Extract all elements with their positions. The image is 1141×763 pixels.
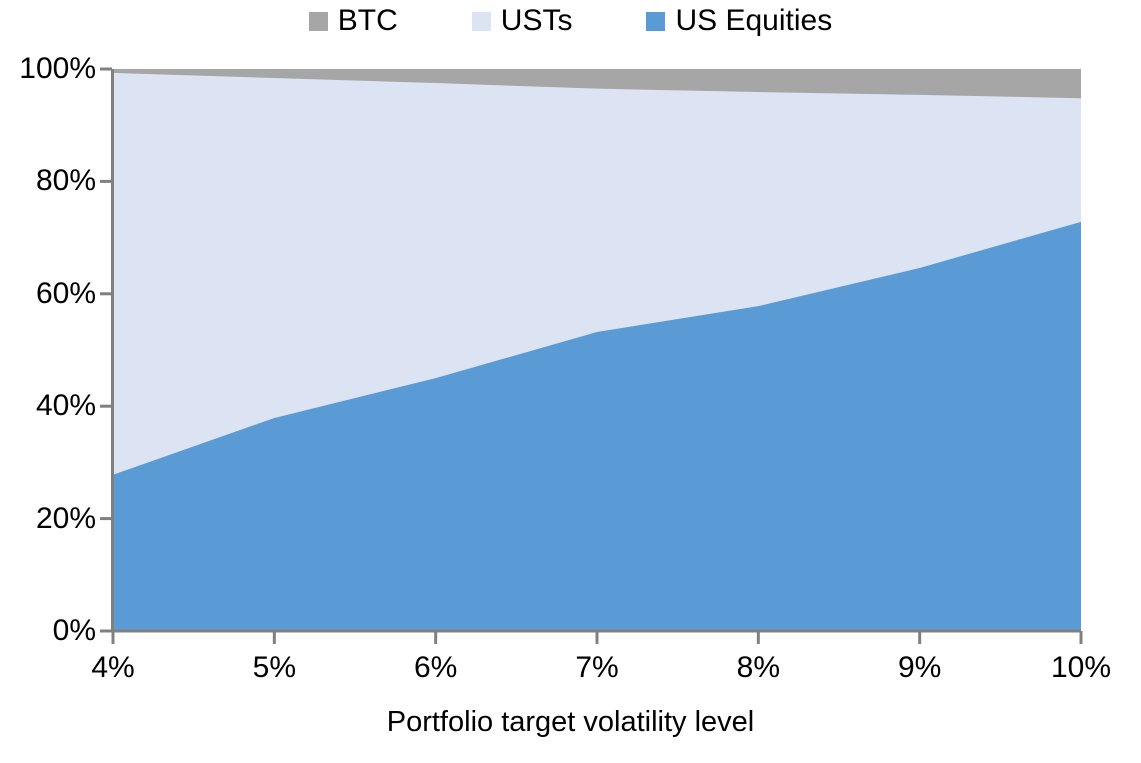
x-axis-tick-label: 6% — [414, 651, 457, 685]
y-axis-tick-label: 40% — [36, 389, 96, 423]
y-axis-tick-label: 0% — [53, 614, 96, 648]
x-axis-tick-label: 4% — [91, 651, 134, 685]
y-axis-tick-label: 80% — [36, 164, 96, 198]
x-axis-tick-label: 8% — [737, 651, 780, 685]
chart-container: BTC USTs US Equities 0%20%40%60%80%100% … — [0, 0, 1141, 763]
x-axis-tick-label: 5% — [253, 651, 296, 685]
area-series-group — [113, 69, 1081, 631]
y-axis-tick-label: 20% — [36, 502, 96, 536]
plot-area — [0, 0, 1141, 763]
y-axis-tick-label: 100% — [19, 52, 96, 86]
y-axis-tick-label: 60% — [36, 277, 96, 311]
x-axis-tick-label: 7% — [575, 651, 618, 685]
x-axis-tick-label: 9% — [898, 651, 941, 685]
x-axis-tick-label: 10% — [1051, 651, 1111, 685]
x-axis-title: Portfolio target volatility level — [0, 706, 1141, 739]
